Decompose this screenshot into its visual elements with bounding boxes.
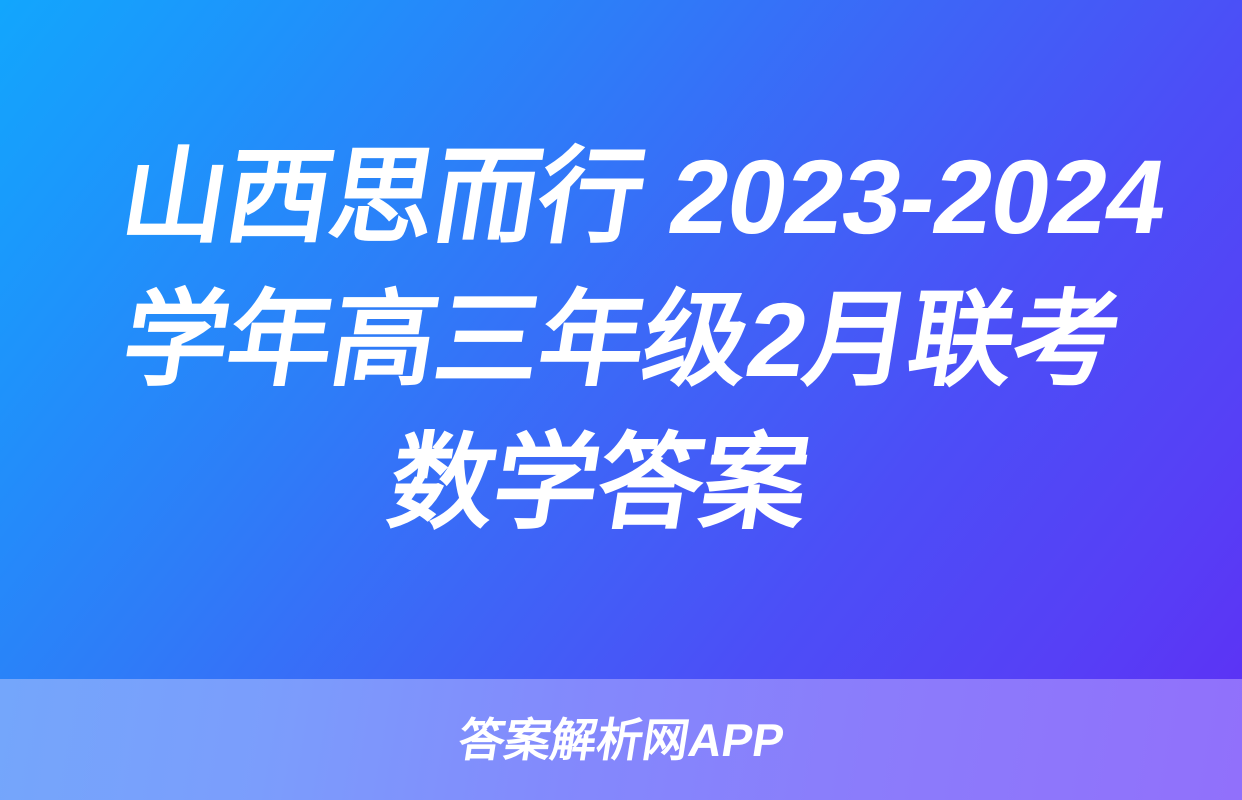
watermark-band: 答案解析网APP: [0, 679, 1242, 800]
page-title: 山西思而行 2023-2024学年高三年级2月联考数学答案: [52, 126, 1190, 555]
title-area: 山西思而行 2023-2024学年高三年级2月联考数学答案: [0, 0, 1242, 680]
answer-cover-card: 山西思而行 2023-2024学年高三年级2月联考数学答案 答案解析网APP: [0, 0, 1242, 800]
watermark-label: 答案解析网APP: [455, 716, 787, 764]
